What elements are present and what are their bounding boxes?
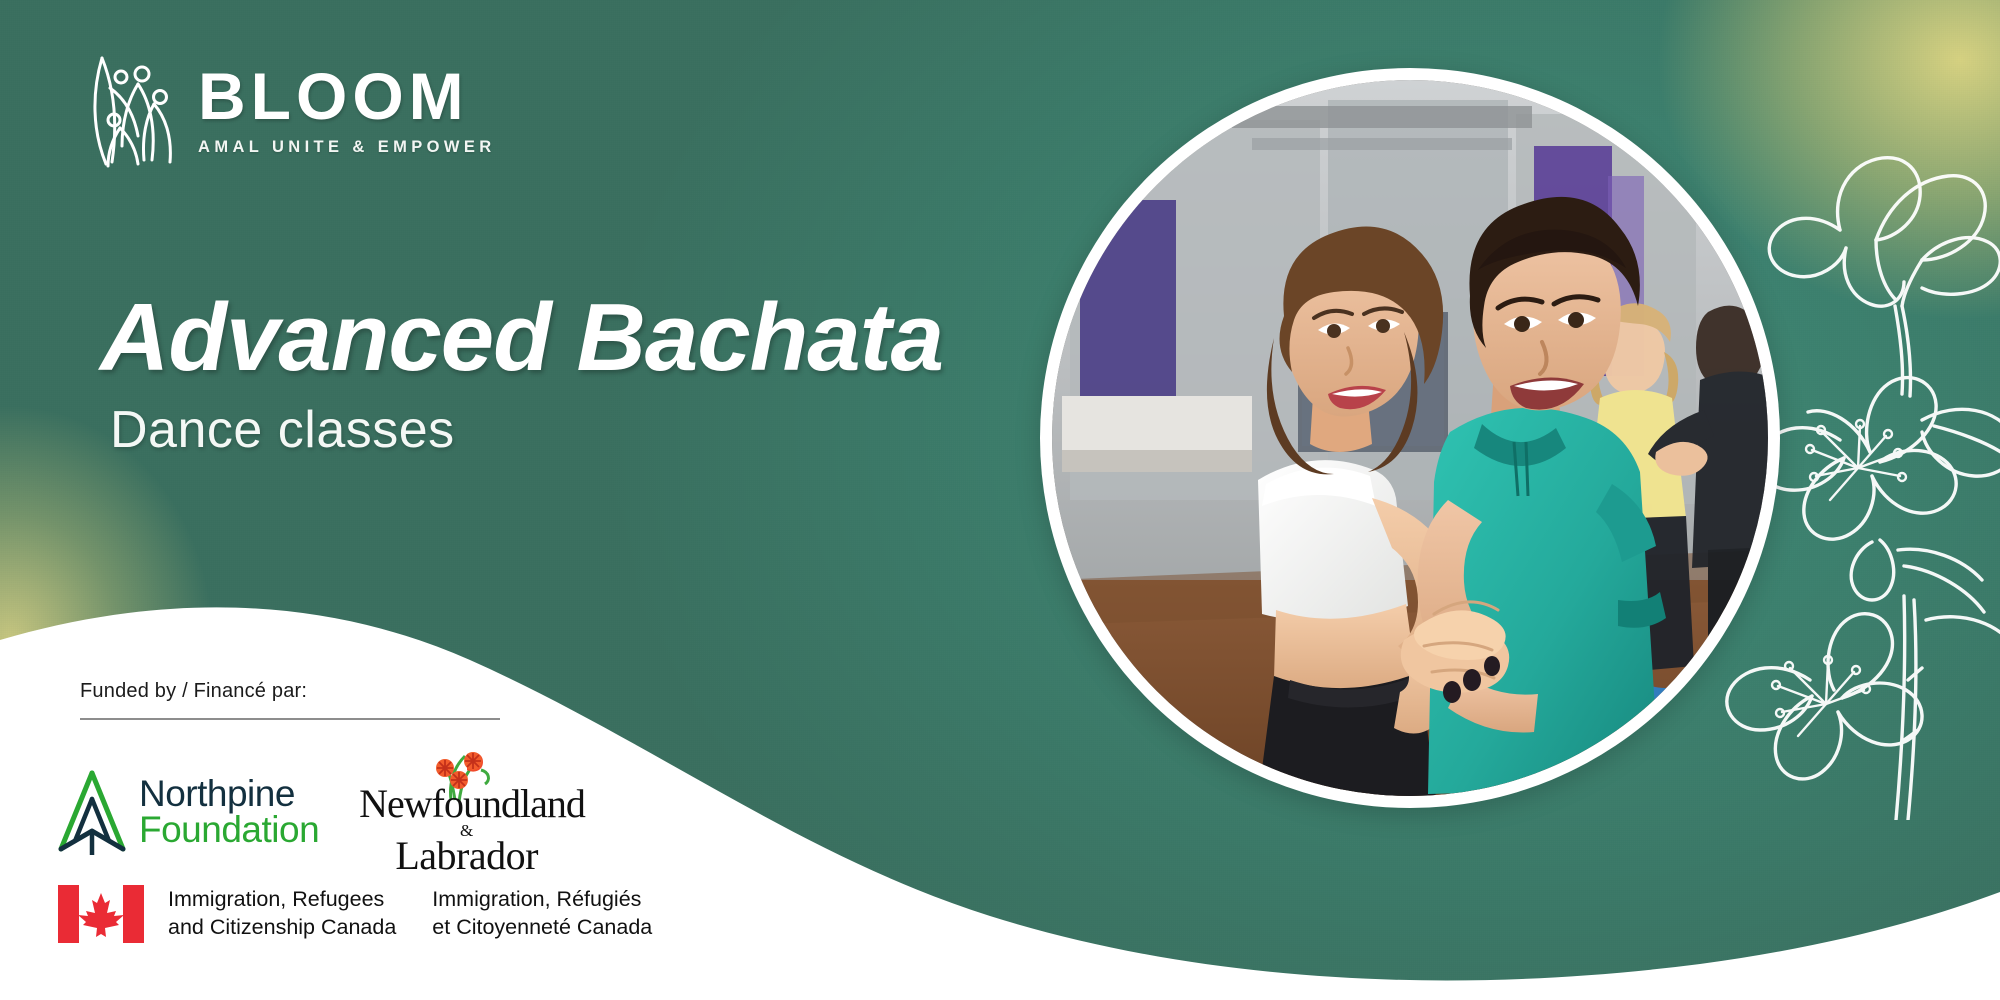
promotional-banner: BLOOM AMAL UNITE & EMPOWER Advanced Bach…: [0, 0, 2000, 1000]
ircc-fr-line2: et Citoyenneté Canada: [432, 914, 652, 942]
northpine-line2: Foundation: [139, 812, 319, 848]
ircc-en-line1: Immigration, Refugees: [168, 886, 396, 914]
ircc-en-line2: and Citizenship Canada: [168, 914, 396, 942]
ircc-french: Immigration, Réfugiés et Citoyenneté Can…: [432, 886, 652, 941]
nl-line1: Newfoundland: [359, 786, 574, 823]
northpine-wordmark: Northpine Foundation: [139, 776, 319, 847]
brand-tagline: AMAL UNITE & EMPOWER: [198, 138, 496, 157]
funded-by-divider: [80, 718, 500, 720]
funder-logo-row: Northpine Foundation: [55, 762, 574, 862]
government-of-canada-wordmark: Immigration, Refugees and Citizenship Ca…: [58, 885, 652, 943]
canada-flag-icon: [58, 885, 144, 943]
ircc-text-columns: Immigration, Refugees and Citizenship Ca…: [168, 886, 652, 941]
northpine-line1: Northpine: [139, 776, 319, 812]
bloom-wordmark: BLOOM AMAL UNITE & EMPOWER: [198, 63, 496, 157]
ircc-english: Immigration, Refugees and Citizenship Ca…: [168, 886, 396, 941]
bloom-logo: BLOOM AMAL UNITE & EMPOWER: [80, 52, 496, 168]
pine-arrow-icon: [55, 769, 129, 855]
newfoundland-labrador-logo: Newfoundland & Labrador: [359, 762, 574, 862]
funded-by-label: Funded by / Financé par:: [80, 680, 307, 703]
bloom-leaf-people-mark: [80, 52, 180, 168]
northpine-foundation-logo: Northpine Foundation: [55, 769, 319, 855]
ircc-fr-line1: Immigration, Réfugiés: [432, 886, 652, 914]
page-title: Advanced Bachata: [100, 288, 943, 388]
page-subtitle: Dance classes: [110, 400, 455, 460]
newfoundland-wordmark: Newfoundland & Labrador: [359, 786, 574, 875]
nl-line2: Labrador: [359, 838, 574, 875]
brand-name: BLOOM: [198, 63, 496, 129]
